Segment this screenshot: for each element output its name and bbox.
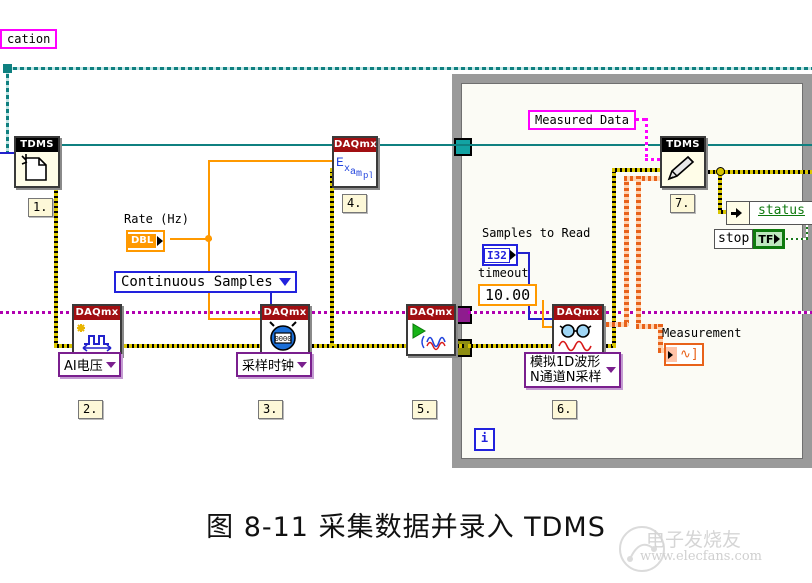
node-header: DAQmx [334, 138, 376, 152]
wire-error-8 [612, 168, 660, 172]
step-note-7: 7. [670, 194, 695, 213]
wire-task-bus-left [0, 311, 452, 314]
chevron-down-icon [297, 362, 307, 368]
node-header: DAQmx [554, 306, 602, 320]
daqmx-timing-icon: 0000 [262, 320, 308, 354]
ring-ai-voltage[interactable]: AI电压 [58, 352, 121, 377]
samples-to-read-label: Samples to Read [482, 226, 590, 240]
ring-sample-clock[interactable]: 采样时钟 [236, 352, 312, 377]
wire-bool-h2 [786, 238, 808, 240]
wire-dynamic-to-write [624, 176, 662, 181]
node-header: DAQmx [74, 306, 120, 320]
wire-tdms-reference-out [690, 144, 812, 146]
wire-dynamic-v2 [636, 176, 641, 326]
daqmx-read-icon [554, 320, 602, 354]
node-header: TDMS [16, 138, 58, 152]
terminal-nub-icon [510, 250, 516, 260]
top-left-label[interactable]: cation [0, 29, 57, 49]
ring-read-mode[interactable]: 模拟1D波形 N通道N采样 [524, 352, 621, 388]
ring-label: 采样时钟 [242, 359, 294, 374]
daqmx-create-channel-icon [74, 320, 120, 354]
svg-text:E: E [336, 155, 344, 170]
dbl-tag: DBL [128, 234, 156, 248]
measurement-label: Measurement [662, 326, 741, 340]
status-indicator[interactable]: status [726, 201, 812, 225]
ring-label: AI电压 [64, 359, 103, 374]
watermark-url-text: www.elecfans.com [640, 549, 762, 564]
timeout-label: timeout [478, 266, 529, 280]
node-header: DAQmx [262, 306, 308, 320]
wire-rate-3 [208, 160, 334, 162]
rate-label: Rate (Hz) [124, 212, 189, 226]
figure-caption: 图 8-11 采集数据并录入 TDMS [0, 505, 812, 544]
terminal-nub-icon [666, 347, 677, 362]
iteration-terminal: i [474, 428, 495, 451]
status-label: status [750, 202, 812, 224]
stop-label: stop [714, 229, 753, 249]
wire-error-3 [330, 168, 334, 346]
wire-junction-rate [205, 235, 212, 242]
measurement-indicator[interactable]: ∿] [664, 343, 704, 366]
step-note-6: 6. [552, 400, 577, 419]
step-note-3: 3. [258, 400, 283, 419]
step-note-2: 2. [78, 400, 103, 419]
wire-junction-tdms [3, 64, 12, 73]
chevron-down-icon [106, 362, 116, 368]
block-diagram-canvas: i [0, 0, 812, 500]
rate-terminal[interactable]: DBL [126, 230, 165, 252]
wire-tdms-left-drop [6, 67, 9, 152]
terminal-nub-icon [774, 234, 780, 244]
wire-error-out [690, 170, 812, 174]
node-header: TDMS [662, 138, 704, 152]
i32-tag: I32 [484, 248, 510, 263]
node-tdms-write[interactable]: TDMS [660, 136, 706, 188]
daqmx-start-icon [408, 320, 454, 354]
svg-text:m: m [356, 169, 362, 180]
tunnel-tdms-reference[interactable] [454, 138, 472, 156]
node-daqmx-start[interactable]: DAQmx [406, 304, 456, 356]
tdms-open-icon [16, 152, 58, 186]
wire-timeout-v [542, 300, 544, 328]
step-note-5: 5. [412, 400, 437, 419]
step-note-4: 4. [342, 194, 367, 213]
stop-control[interactable]: stop TF [714, 229, 785, 249]
node-header: DAQmx [408, 306, 454, 320]
wire-dynamic-h1 [600, 322, 628, 327]
wire-samples-in [528, 318, 554, 320]
wire-error-7 [612, 168, 616, 346]
samples-to-read-terminal[interactable]: I32 [482, 244, 518, 266]
tunnel-task-in[interactable] [454, 306, 472, 324]
error-cluster-icon [727, 202, 750, 224]
tunnel-error-in[interactable] [454, 339, 472, 357]
sample-mode-enum[interactable]: Continuous Samples [114, 271, 297, 293]
wire-junction-error [716, 167, 725, 176]
wire-error-to-status [718, 170, 722, 212]
terminal-nub-icon [157, 236, 163, 246]
step-note-1: 1. [28, 198, 53, 217]
wire-dynamic-v1 [624, 176, 629, 326]
timeout-constant[interactable]: 10.00 [478, 284, 537, 306]
node-daqmx-read[interactable]: DAQmx [552, 304, 604, 356]
ring-label-line1: 模拟1D波形 [530, 355, 600, 370]
wire-tdms-top-bus [6, 67, 812, 70]
node-daqmx-timing[interactable]: DAQmx 0000 [260, 304, 310, 356]
node-daqmx-create-channel[interactable]: DAQmx [72, 304, 122, 356]
wire-measured-data-v [645, 118, 648, 160]
svg-text:pl: pl [363, 171, 372, 181]
node-daqmx-example[interactable]: DAQmx E x a m pl [332, 136, 378, 188]
tdms-write-icon [662, 152, 704, 186]
waveform-icon: ∿] [677, 347, 702, 362]
chevron-down-icon [279, 278, 291, 286]
ring-label-line2: N通道N采样 [530, 370, 601, 385]
chevron-down-icon [606, 367, 616, 373]
daqmx-example-icon: E x a m pl [334, 152, 376, 186]
sample-mode-value: Continuous Samples [121, 274, 273, 290]
stop-value: TF [758, 233, 773, 246]
measured-data-label[interactable]: Measured Data [528, 110, 636, 130]
node-tdms-open[interactable]: TDMS [14, 136, 60, 188]
wire-error-1 [54, 168, 58, 346]
stop-boolean-terminal[interactable]: TF [753, 229, 785, 249]
svg-text:0000: 0000 [275, 336, 292, 344]
